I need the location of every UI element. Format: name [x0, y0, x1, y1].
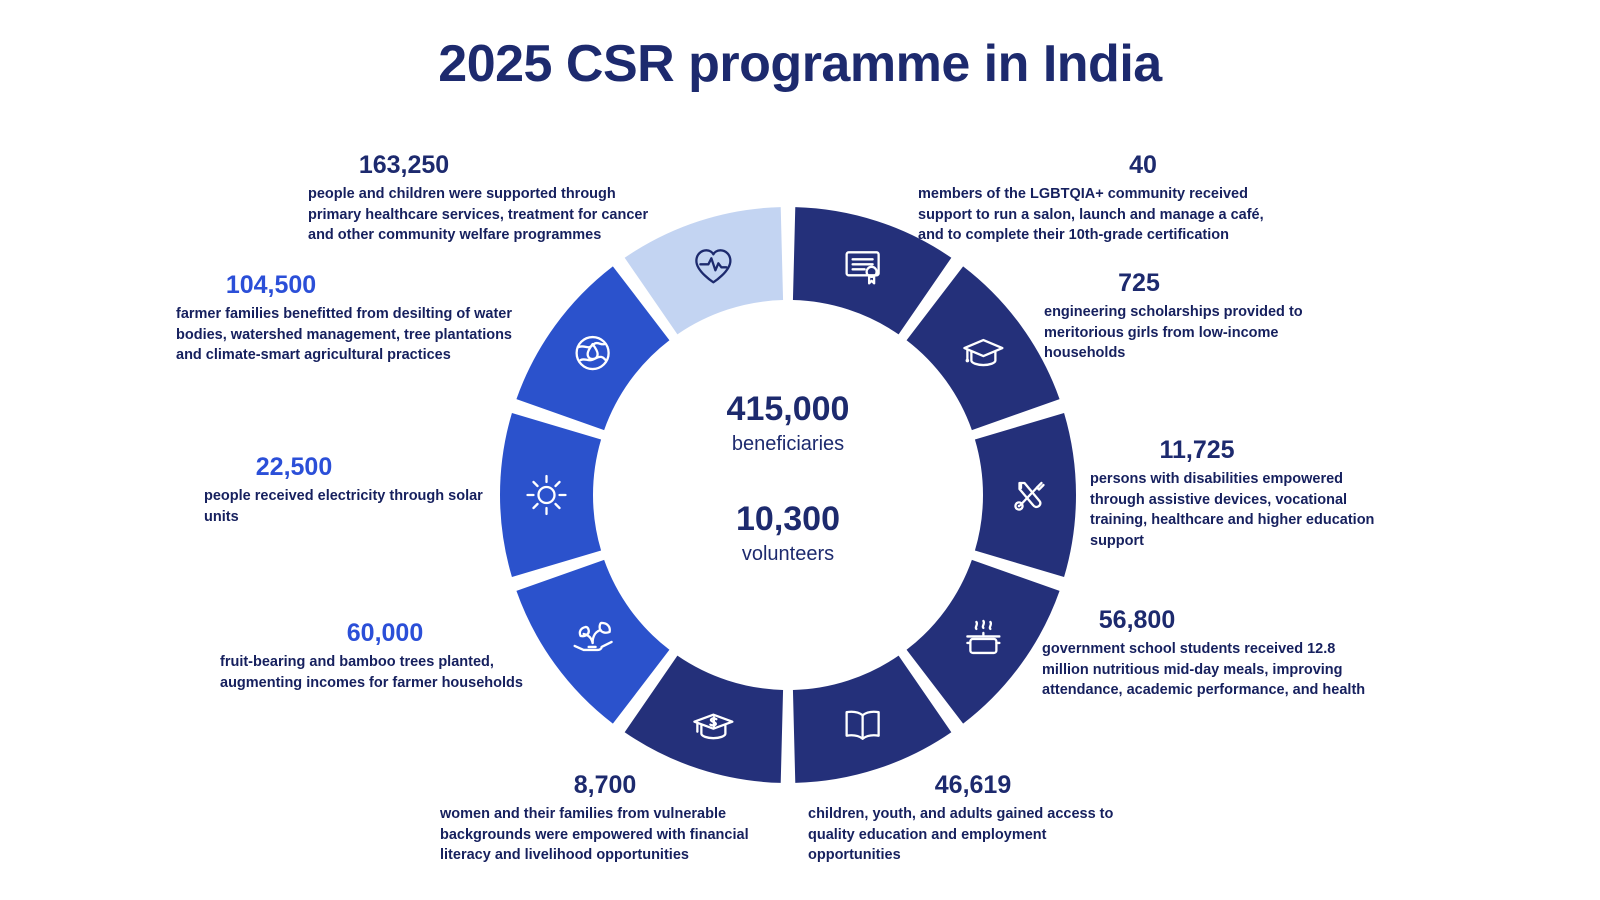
callout-solar-description: people received electricity through sola…: [204, 486, 504, 527]
callout-education-description: children, youth, and adults gained acces…: [808, 804, 1138, 866]
callout-disability: 11,725 persons with disabilities empower…: [1090, 435, 1390, 552]
callout-scholarship-value: 725: [1044, 268, 1354, 299]
callout-disability-description: persons with disabilities empowered thro…: [1090, 469, 1390, 551]
callout-education-value: 46,619: [808, 770, 1138, 801]
donut-chart: [500, 207, 1076, 783]
callout-education: 46,619 children, youth, and adults gaine…: [808, 770, 1138, 866]
callout-women-value: 8,700: [440, 770, 770, 801]
volunteers-value: 10,300: [638, 500, 938, 539]
callout-water-value: 104,500: [176, 270, 526, 301]
callout-lgbtqia-description: members of the LGBTQIA+ community receiv…: [918, 184, 1268, 246]
callout-meals-description: government school students received 12.8…: [1042, 639, 1382, 701]
donut-segment-solar-electricity[interactable]: [500, 413, 601, 577]
callout-trees: 60,000 fruit-bearing and bamboo trees pl…: [220, 618, 550, 693]
callout-healthcare-value: 163,250: [308, 150, 668, 181]
callout-scholarship-description: engineering scholarships provided to mer…: [1044, 302, 1354, 364]
callout-meals-value: 56,800: [1042, 605, 1382, 636]
donut-segment-mid-day-meals[interactable]: [907, 560, 1060, 724]
donut-chart-svg: [500, 207, 1076, 783]
callout-trees-value: 60,000: [220, 618, 550, 649]
callout-healthcare: 163,250 people and children were support…: [308, 150, 668, 246]
callout-disability-value: 11,725: [1090, 435, 1390, 466]
infographic-page: 2025 CSR programme in India: [0, 0, 1600, 900]
callout-trees-description: fruit-bearing and bamboo trees planted, …: [220, 652, 550, 693]
center-beneficiaries-stat: 415,000 beneficiaries: [638, 390, 938, 459]
beneficiaries-label: beneficiaries: [638, 429, 938, 459]
callout-solar-value: 22,500: [204, 452, 504, 483]
volunteers-label: volunteers: [638, 539, 938, 569]
callout-scholarship: 725 engineering scholarships provided to…: [1044, 268, 1354, 364]
callout-water: 104,500 farmer families benefitted from …: [176, 270, 526, 366]
callout-water-description: farmer families benefitted from desiltin…: [176, 304, 526, 366]
callout-women: 8,700 women and their families from vuln…: [440, 770, 770, 866]
callout-solar: 22,500 people received electricity throu…: [204, 452, 504, 527]
donut-segment-group: [500, 207, 1076, 783]
callout-lgbtqia: 40 members of the LGBTQIA+ community rec…: [918, 150, 1268, 246]
center-volunteers-stat: 10,300 volunteers: [638, 500, 938, 569]
page-title: 2025 CSR programme in India: [0, 34, 1600, 94]
callout-meals: 56,800 government school students receiv…: [1042, 605, 1382, 701]
beneficiaries-value: 415,000: [638, 390, 938, 429]
callout-lgbtqia-value: 40: [918, 150, 1268, 181]
callout-women-description: women and their families from vulnerable…: [440, 804, 770, 866]
callout-healthcare-description: people and children were supported throu…: [308, 184, 668, 246]
